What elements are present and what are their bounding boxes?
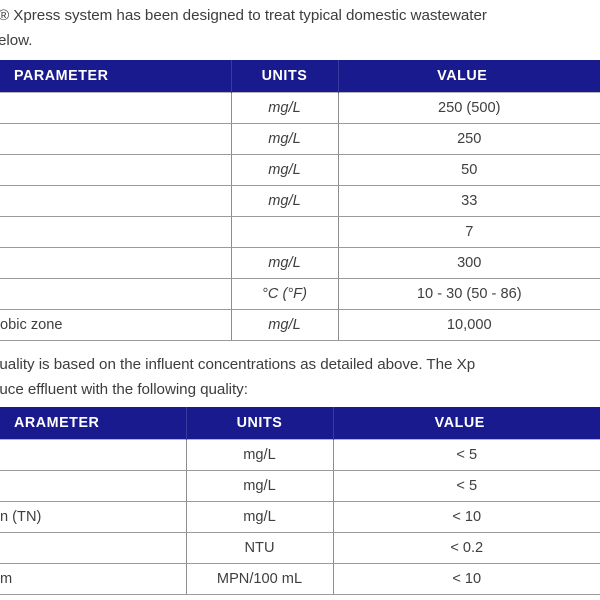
influent-row-5-parameter <box>0 247 231 278</box>
effluent-row-1-units: mg/L <box>186 470 333 501</box>
effluent-header-parameter: ARAMETER <box>0 407 186 439</box>
influent-header-parameter: PARAMETER <box>0 60 231 92</box>
effluent-row-4-value: < 10 <box>333 563 600 594</box>
table-row: mg/L 300 <box>0 247 600 278</box>
table-row: mg/L 250 <box>0 123 600 154</box>
effluent-row-0-units: mg/L <box>186 439 333 470</box>
document-page: ® Xpress system has been designed to tre… <box>0 0 600 600</box>
influent-row-6-value: 10 - 30 (50 - 86) <box>338 278 600 309</box>
table-row: NTU < 0.2 <box>0 532 600 563</box>
influent-row-1-parameter <box>0 123 231 154</box>
influent-row-5-units: mg/L <box>231 247 338 278</box>
table-row: mg/L 50 <box>0 154 600 185</box>
influent-row-0-parameter <box>0 92 231 123</box>
influent-row-1-units: mg/L <box>231 123 338 154</box>
influent-row-4-parameter <box>0 216 231 247</box>
effluent-table-header-row: ARAMETER UNITS VALUE <box>0 407 600 439</box>
effluent-row-2-value: < 10 <box>333 501 600 532</box>
influent-row-2-value: 50 <box>338 154 600 185</box>
influent-row-6-parameter <box>0 278 231 309</box>
influent-row-7-parameter: obic zone <box>0 309 231 340</box>
influent-header-value: VALUE <box>338 60 600 92</box>
influent-row-5-value: 300 <box>338 247 600 278</box>
influent-parameters-table: PARAMETER UNITS VALUE mg/L 250 (500) mg/… <box>0 60 600 341</box>
effluent-row-3-value: < 0.2 <box>333 532 600 563</box>
effluent-row-2-units: mg/L <box>186 501 333 532</box>
effluent-row-0-parameter <box>0 439 186 470</box>
influent-row-2-units: mg/L <box>231 154 338 185</box>
table-row: mg/L 33 <box>0 185 600 216</box>
table-row: obic zone mg/L 10,000 <box>0 309 600 340</box>
effluent-row-3-parameter <box>0 532 186 563</box>
effluent-header-units: UNITS <box>186 407 333 439</box>
effluent-paragraph-line-2: duce effluent with the following quality… <box>0 377 475 402</box>
table-row: n (TN) mg/L < 10 <box>0 501 600 532</box>
intro-paragraph: ® Xpress system has been designed to tre… <box>0 3 487 53</box>
effluent-header-value: VALUE <box>333 407 600 439</box>
influent-row-4-value: 7 <box>338 216 600 247</box>
effluent-row-1-parameter <box>0 470 186 501</box>
influent-row-3-value: 33 <box>338 185 600 216</box>
effluent-row-2-parameter: n (TN) <box>0 501 186 532</box>
influent-row-4-units <box>231 216 338 247</box>
effluent-row-0-value: < 5 <box>333 439 600 470</box>
table-row: °C (°F) 10 - 30 (50 - 86) <box>0 278 600 309</box>
intro-paragraph-line-1: ® Xpress system has been designed to tre… <box>0 3 487 28</box>
table-row: mg/L < 5 <box>0 470 600 501</box>
table-row: m MPN/100 mL < 10 <box>0 563 600 594</box>
effluent-row-1-value: < 5 <box>333 470 600 501</box>
effluent-quality-paragraph: quality is based on the influent concent… <box>0 352 475 402</box>
influent-row-6-units: °C (°F) <box>231 278 338 309</box>
influent-row-7-units: mg/L <box>231 309 338 340</box>
table-row: mg/L < 5 <box>0 439 600 470</box>
influent-table-header-row: PARAMETER UNITS VALUE <box>0 60 600 92</box>
influent-row-7-value: 10,000 <box>338 309 600 340</box>
table-row: 7 <box>0 216 600 247</box>
effluent-quality-table: ARAMETER UNITS VALUE mg/L < 5 mg/L < 5 n… <box>0 407 600 595</box>
influent-row-3-parameter <box>0 185 231 216</box>
influent-row-0-units: mg/L <box>231 92 338 123</box>
influent-header-units: UNITS <box>231 60 338 92</box>
influent-row-2-parameter <box>0 154 231 185</box>
intro-paragraph-line-2: elow. <box>0 28 487 53</box>
effluent-paragraph-line-1: quality is based on the influent concent… <box>0 352 475 377</box>
influent-row-0-value: 250 (500) <box>338 92 600 123</box>
table-row: mg/L 250 (500) <box>0 92 600 123</box>
effluent-row-3-units: NTU <box>186 532 333 563</box>
effluent-row-4-parameter: m <box>0 563 186 594</box>
effluent-row-4-units: MPN/100 mL <box>186 563 333 594</box>
influent-row-3-units: mg/L <box>231 185 338 216</box>
influent-row-1-value: 250 <box>338 123 600 154</box>
